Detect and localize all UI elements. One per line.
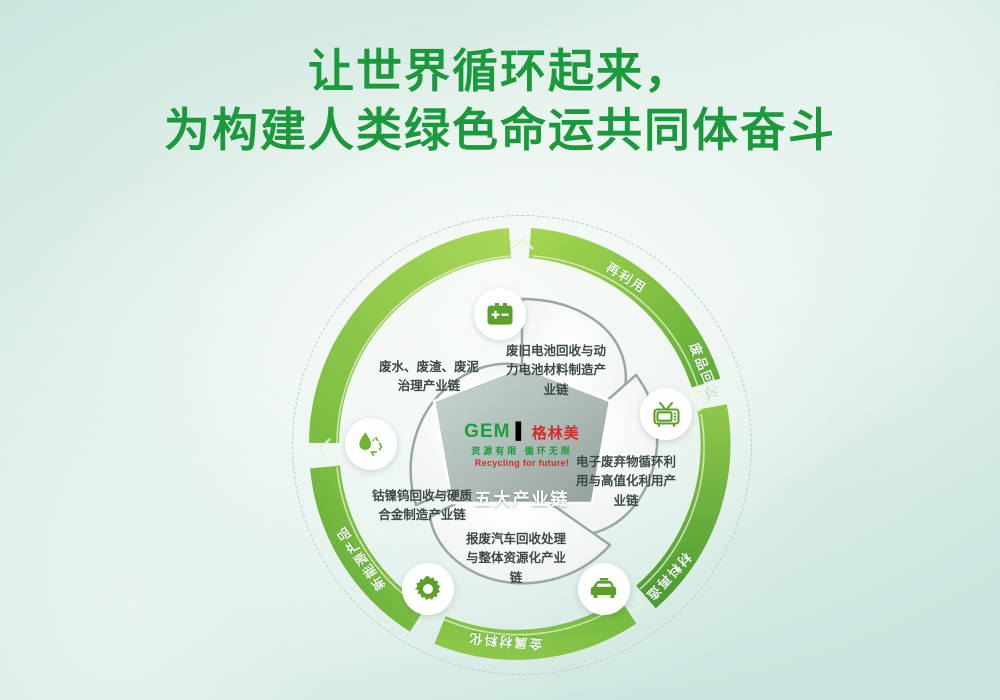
recycle-drop-icon [345,418,397,470]
logo-slogan-en: Recycling for future! [475,458,569,468]
cycle-diagram: GEM ▌ 格林美 资源有限 循环无限 Recycling for future… [292,215,752,675]
logo-redbar-icon: ▌ [515,423,526,441]
battery-icon [474,288,526,340]
gear-icon [402,563,454,615]
tv-icon [640,388,692,440]
petal-label-cobalt: 钴镍钨回收与硬质合金制造产业链 [370,487,474,526]
logo-brand-latin: GEM [464,421,510,443]
page-title-line-1: 让世界循环起来， [0,42,1000,101]
center-title: 五大产业链 [475,485,570,510]
page-title-line-2: 为构建人类绿色命运共同体奋斗 [0,101,1000,160]
logo-brand-cn: 格林美 [532,422,580,443]
logo-slogan-cn: 资源有限 循环无限 [471,444,573,457]
petal-label-waste: 废水、废渣、废泥治理产业链 [377,358,481,397]
petal-label-battery: 废旧电池回收与动力电池材料制造产业链 [504,342,608,400]
petal-label-auto: 报废汽车回收处理与整体资源化产业链 [464,530,568,588]
page-title: 让世界循环起来， 为构建人类绿色命运共同体奋斗 [0,42,1000,160]
car-icon [578,563,630,615]
petal-label-ewaste: 电子废弃物循环利用与高值化利用产业链 [574,453,678,511]
